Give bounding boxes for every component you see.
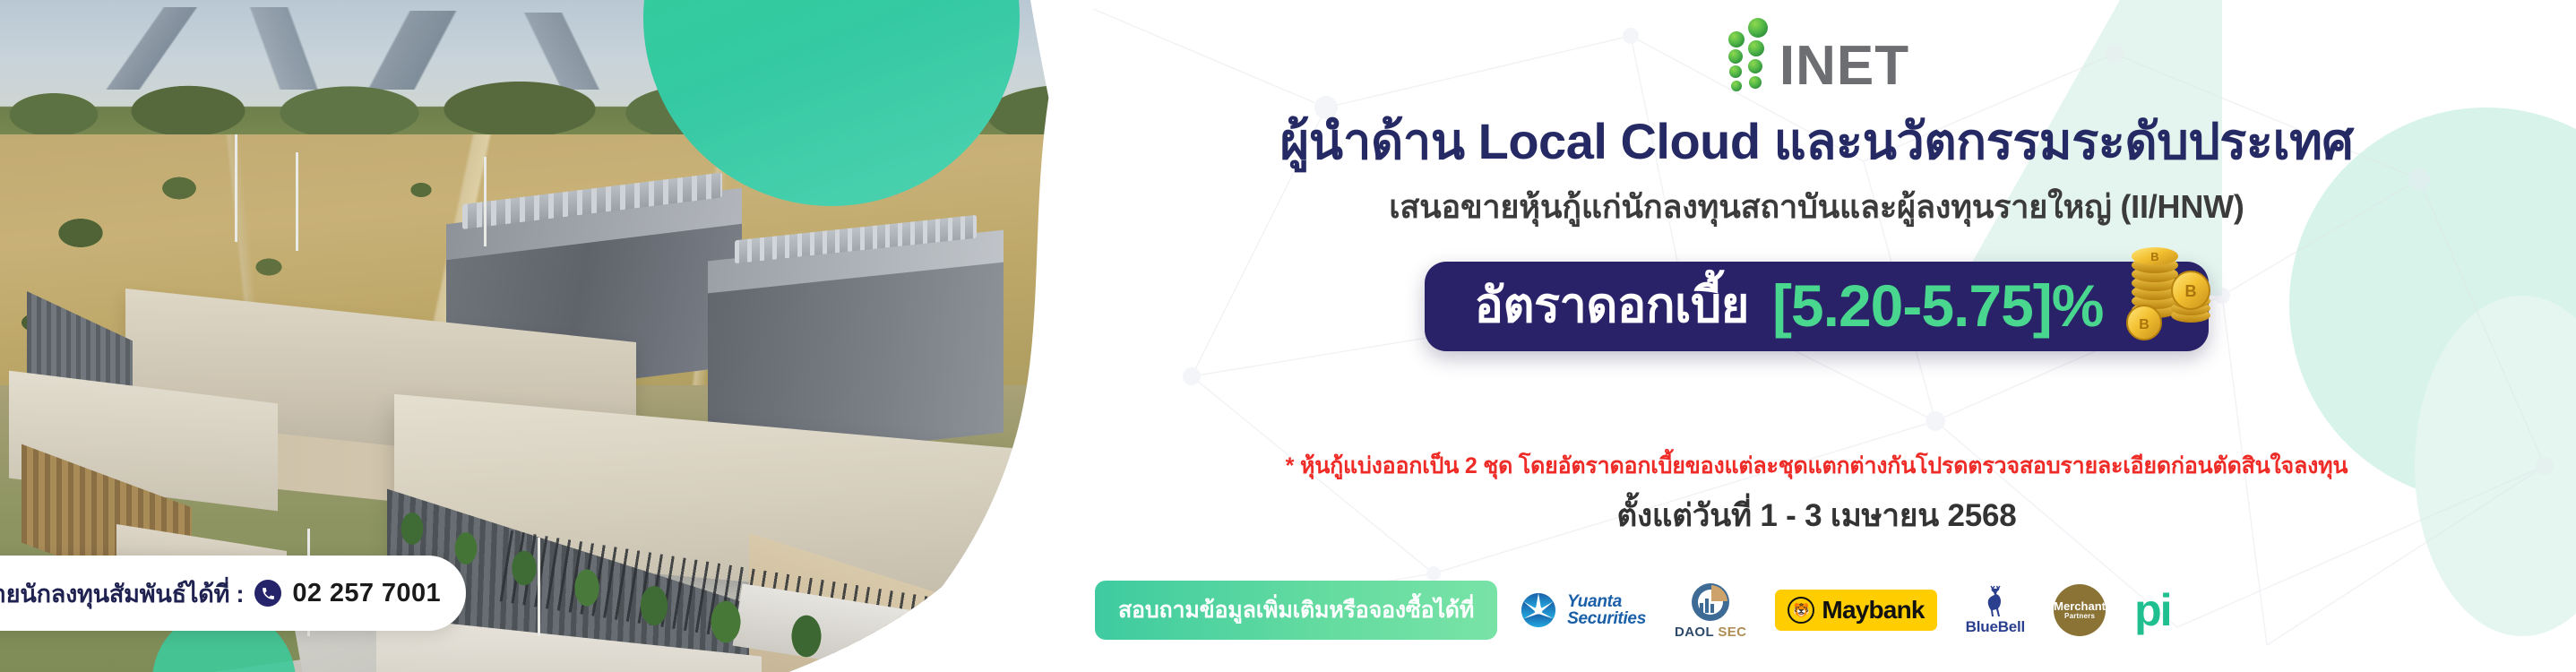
phone-icon — [254, 580, 281, 607]
svg-text:B: B — [2185, 282, 2197, 300]
broker-logo-yuanta[interactable]: Yuanta Securities — [1519, 590, 1646, 630]
page-headline: ผู้นำด้าน Local Cloud และนวัตกรรมระดับปร… — [1057, 111, 2576, 171]
contact-label: ติดต่อฝ่ายนักลงทุนสัมพันธ์ได้ที่ : — [0, 574, 244, 613]
pi-wordmark: pi — [2134, 592, 2170, 628]
bluebell-wordmark: BlueBell — [1966, 618, 2025, 636]
investor-relations-contact-bar: ติดต่อฝ่ายนักลงทุนสัมพันธ์ได้ที่ : 02 25… — [0, 556, 466, 631]
contact-phone-number[interactable]: 02 257 7001 — [292, 579, 441, 608]
photo-light-pole — [538, 538, 540, 636]
broker-logo-list: Yuanta Securities DAOL SEC — [1519, 582, 2170, 640]
merchant-line2: Partners — [2064, 613, 2095, 620]
daol-circle-icon — [1690, 582, 1731, 623]
subscribe-inquiry-button[interactable]: สอบถามข้อมูลเพิ่มเติมหรือจองซื้อได้ที่ — [1095, 581, 1497, 640]
banner-root: ติดต่อฝ่ายนักลงทุนสัมพันธ์ได้ที่ : 02 25… — [0, 0, 2576, 672]
footer-row: สอบถามข้อมูลเพิ่มเติมหรือจองซื้อได้ที่ — [1057, 581, 2576, 640]
interest-rate-value: [5.20-5.75]% — [1772, 276, 2104, 335]
daol-line2: SEC — [1718, 625, 1746, 640]
photo-utility-pole — [484, 157, 487, 246]
bluebell-deer-icon — [1980, 585, 2011, 617]
broker-logo-bluebell[interactable]: BlueBell — [1966, 585, 2025, 636]
yuanta-wordmark: Yuanta Securities — [1567, 593, 1646, 628]
inet-wordmark: INET — [1779, 40, 1909, 93]
maybank-tiger-icon: 🐯 — [1788, 597, 1814, 624]
content-panel: INET ผู้นำด้าน Local Cloud และนวัตกรรมระ… — [1057, 0, 2576, 672]
yuanta-line1: Yuanta — [1567, 592, 1622, 611]
rate-disclaimer-note: * หุ้นกู้แบ่งออกเป็น 2 ชุด โดยอัตราดอกเบ… — [1057, 448, 2576, 484]
yuanta-star-icon — [1519, 590, 1558, 630]
photo-utility-pole — [235, 134, 237, 242]
inet-logo: INET — [1057, 16, 2576, 93]
yuanta-line2: Securities — [1567, 609, 1646, 628]
interest-rate-label: อัตราดอกเบี้ย — [1475, 281, 1749, 330]
gold-coins-icon: B B B — [2114, 222, 2214, 340]
svg-text:B: B — [2151, 250, 2159, 263]
broker-logo-daol[interactable]: DAOL SEC — [1675, 582, 1746, 640]
inet-dots-icon — [1724, 16, 1774, 93]
maybank-wordmark: Maybank — [1822, 596, 1924, 625]
merchant-line1: Merchant — [2054, 600, 2106, 613]
page-subheadline: เสนอขายหุ้นกู้แก่นักลงทุนสถาบันและผู้ลงท… — [1057, 186, 2576, 227]
photo-utility-pole — [296, 152, 298, 251]
daol-line1: DAOL — [1675, 625, 1714, 640]
offering-date-line: ตั้งแต่วันที่ 1 - 3 เมษายน 2568 — [1057, 491, 2576, 540]
svg-text:B: B — [2140, 317, 2150, 332]
broker-logo-merchant-partners[interactable]: Merchant Partners — [2054, 584, 2106, 636]
interest-rate-section: อัตราดอกเบี้ย [5.20-5.75]% — [1057, 262, 2576, 351]
daol-wordmark: DAOL SEC — [1675, 625, 1746, 640]
interest-rate-box: อัตราดอกเบี้ย [5.20-5.75]% — [1425, 262, 2210, 351]
broker-logo-pi[interactable]: pi — [2134, 592, 2170, 628]
broker-logo-maybank[interactable]: 🐯 Maybank — [1775, 590, 1936, 631]
